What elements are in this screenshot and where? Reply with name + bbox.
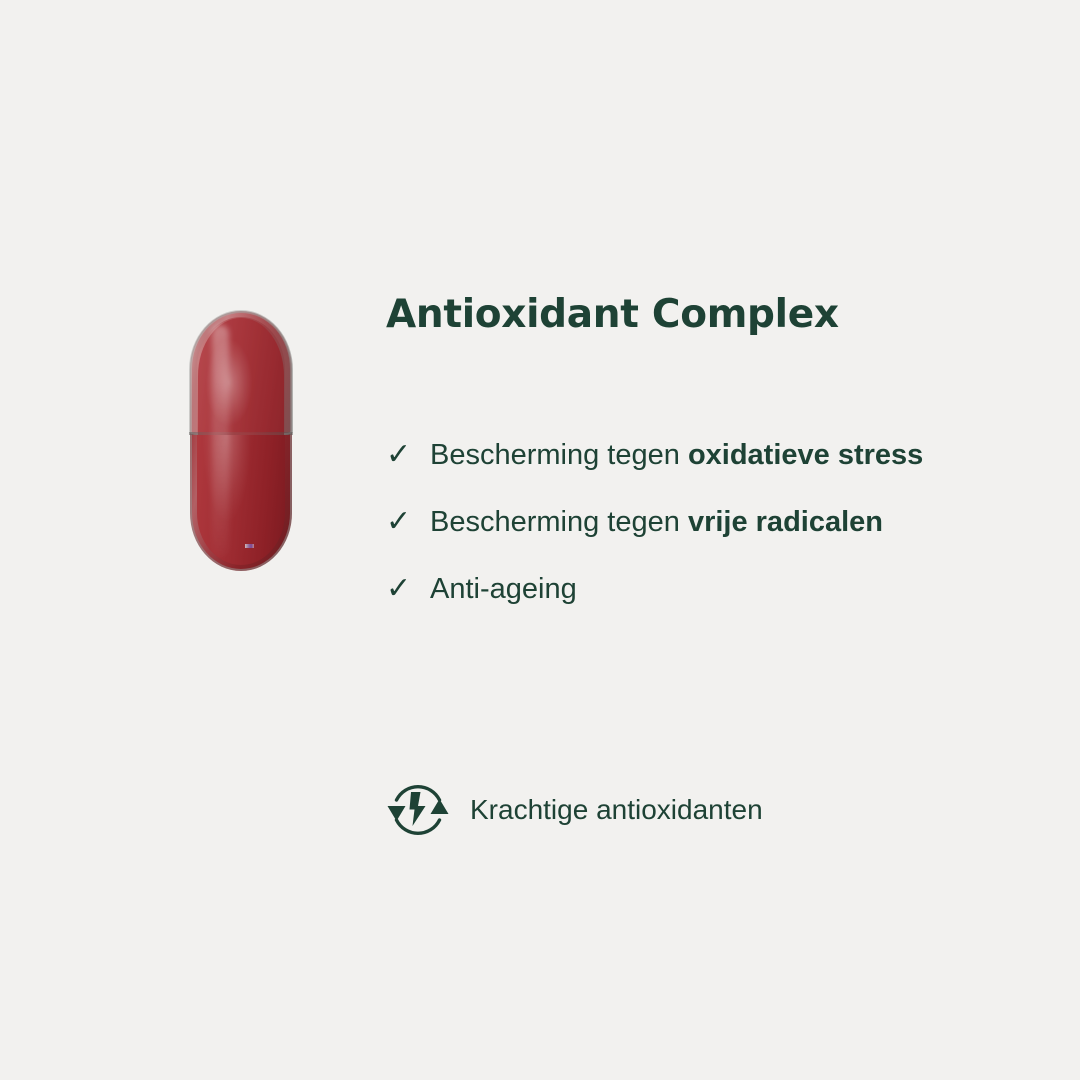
check-icon: ✓ <box>386 507 430 537</box>
capsule-pill <box>190 311 292 571</box>
page-title: Antioxidant Complex <box>386 294 1026 337</box>
benefit-text-plain: Bescherming tegen <box>430 506 688 538</box>
list-item: ✓ Anti-ageing <box>386 574 1046 641</box>
capsule-gloss-highlight <box>212 325 229 557</box>
list-item: ✓ Bescherming tegen oxidatieve stress <box>386 440 1046 507</box>
benefit-text: Anti-ageing <box>430 575 577 604</box>
benefit-text: Bescherming tegen oxidatieve stress <box>430 441 923 470</box>
benefit-text-emphasis: vrije radicalen <box>688 506 883 538</box>
benefit-text-plain: Bescherming tegen <box>430 439 688 471</box>
capsule-speck <box>245 544 254 548</box>
benefit-text-plain: Anti-ageing <box>430 573 577 605</box>
list-item: ✓ Bescherming tegen vrije radicalen <box>386 507 1046 574</box>
benefits-list: ✓ Bescherming tegen oxidatieve stress ✓ … <box>386 440 1046 641</box>
capsule-cap <box>189 310 293 435</box>
benefit-text: Bescherming tegen vrije radicalen <box>430 508 883 537</box>
cycle-bolt-icon <box>384 776 452 844</box>
badge-label: Krachtige antioxidanten <box>470 796 763 824</box>
capsule-seam <box>189 432 293 435</box>
check-icon: ✓ <box>386 440 430 470</box>
capsule-cap-inner <box>198 318 284 435</box>
benefit-text-emphasis: oxidatieve stress <box>688 439 923 471</box>
capsule-image <box>190 311 292 571</box>
check-icon: ✓ <box>386 574 430 604</box>
product-feature-card: Antioxidant Complex ✓ Bescherming tegen … <box>0 0 1080 1080</box>
highlight-badge: Krachtige antioxidanten <box>384 776 763 844</box>
product-header: Antioxidant Complex <box>386 294 1026 337</box>
